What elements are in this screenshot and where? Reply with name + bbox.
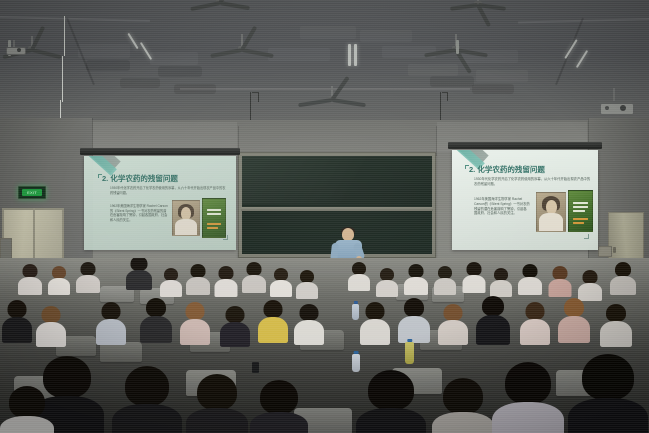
student [18,264,42,294]
student [96,302,126,344]
slide-paragraph-1: 1930年代化学农药开启了化学农药使用的序幕，从六十年代开始出现农产品中的农药残… [474,177,592,187]
student [186,374,248,433]
student [434,266,456,294]
ceiling-projector [4,40,26,58]
water-bottle [405,342,414,364]
fluorescent-tube-light [576,50,588,68]
slide-paragraph-1: 1930年代化学农药开启了化学农药使用的序幕，从六十年代开始出现农产品中的农药残… [110,186,228,195]
student [186,264,210,294]
student [220,306,250,346]
student [294,304,324,344]
student [462,262,485,291]
ceiling-fan [448,0,508,10]
silent-spring-book-cover [202,198,226,238]
left-projection-screen: 2. 化学农药的残留问题 1930年代化学农药开启了化学农药使用的序幕，从六十年… [84,156,236,250]
exit-sign-label: EXIT [27,191,37,195]
student [126,258,152,290]
student [490,268,512,296]
student [140,298,172,342]
student [548,266,571,295]
ceiling-fan [190,0,250,8]
student [610,262,636,294]
slide-title: 2. 化学农药的残留问题 [469,164,545,175]
slide-paragraph-2: 1962年美国海洋生物学家 Rachel Carson的《Silent Spri… [474,197,530,216]
rachel-carson-photo [172,200,200,236]
student [258,300,288,342]
student [112,366,182,433]
student [0,386,54,433]
rachel-carson-photo [536,192,566,232]
student [296,270,318,298]
water-bottle [352,304,359,320]
slide-paragraph-2: 1962年美国海洋生物学家 Rachel Carson的《Silent Spri… [110,204,168,223]
student [250,380,308,433]
right-projection-screen: 2. 化学农药的残留问题 1930年代化学农药开启了化学农药使用的序幕，从六十年… [452,150,598,250]
student [348,262,370,290]
ceiling-fan [298,86,366,108]
phone[interactable] [252,362,259,373]
student [404,264,428,294]
emergency-exit-sign: EXIT [18,186,46,199]
student [476,296,510,344]
student [48,266,70,294]
student [356,370,426,433]
student [558,298,590,342]
fluorescent-tube-light [140,42,152,60]
slide-title: 2. 化学农药的残留问题 [102,173,178,184]
lecture-hall-scene: EXIT 2. 化学农药的残留问题 1930年代化学农药开启了化学农药使用的序幕… [0,0,649,433]
student [160,268,182,296]
student [76,262,100,292]
student [520,302,550,344]
student [214,266,237,295]
student [518,264,542,294]
student [438,304,468,344]
student [360,302,390,344]
silent-spring-book-cover [568,190,593,232]
student [600,304,632,346]
ceiling-fan [210,34,274,56]
student [568,354,648,433]
student [432,378,494,433]
fluorescent-tube-light [354,44,357,66]
student [180,302,210,344]
student [270,268,292,296]
student [2,300,32,342]
audience-area [0,258,649,433]
student [492,362,564,433]
fluorescent-tube-light [348,44,351,66]
ceiling-projector [596,88,636,116]
student [578,270,602,300]
student [36,306,66,346]
student [398,298,430,342]
student [242,262,266,292]
student [376,268,398,296]
ceiling [0,0,649,132]
